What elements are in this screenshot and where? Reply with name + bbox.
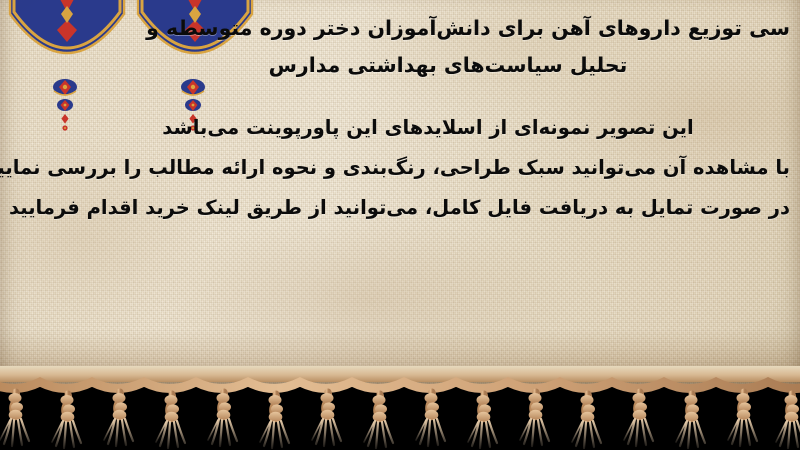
slide-title-line-2: تحلیل سیاست‌های بهداشتی مدارس [10, 47, 790, 84]
slide-canvas: سی توزیع داروهای آهن برای دانش‌آموزان دخ… [0, 0, 800, 450]
slide-title-line-1: سی توزیع داروهای آهن برای دانش‌آموزان دخ… [10, 10, 790, 47]
slide-body-line-1: این تصویر نمونه‌ای از اسلایدهای این پاور… [10, 108, 790, 148]
slide-title: سی توزیع داروهای آهن برای دانش‌آموزان دخ… [10, 10, 790, 84]
slide-body: این تصویر نمونه‌ای از اسلایدهای این پاور… [10, 108, 790, 228]
slide-body-line-3: در صورت تمایل به دریافت فایل کامل، می‌تو… [10, 188, 790, 228]
knotted-tassel-fringe [0, 366, 800, 450]
slide-body-line-2: با مشاهده آن می‌توانید سبک طراحی، رنگ‌بن… [10, 148, 790, 188]
